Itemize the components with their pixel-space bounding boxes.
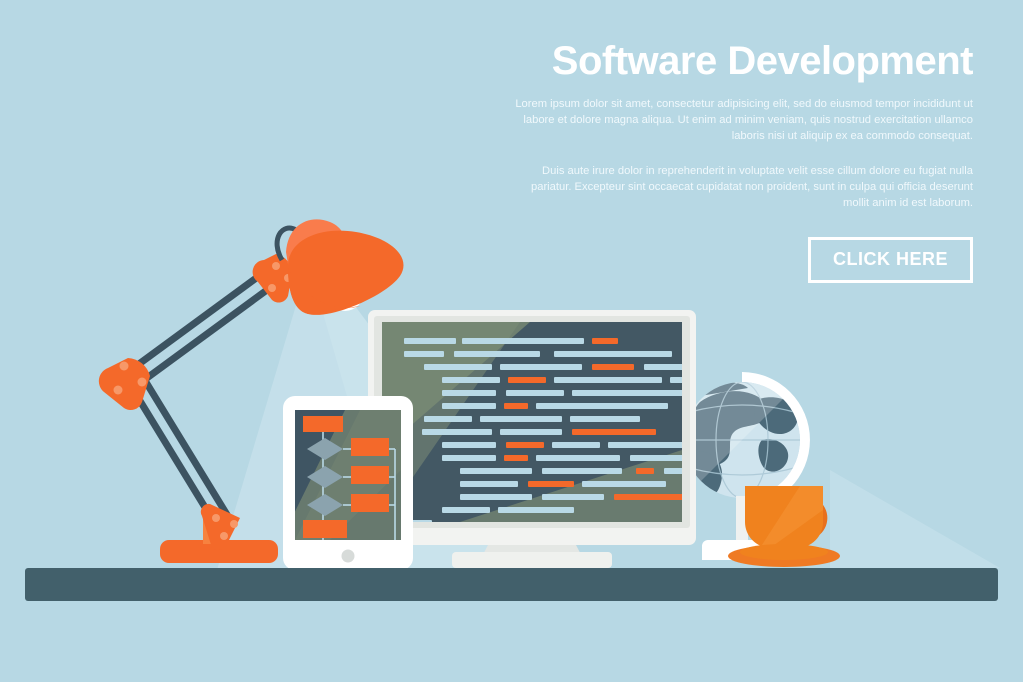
code-line-segment (582, 481, 666, 487)
code-line-segment (528, 481, 574, 487)
code-line-segment (404, 338, 456, 344)
code-line-segment (442, 442, 496, 448)
code-line-segment (454, 351, 540, 357)
monitor-stand-foot (452, 552, 612, 568)
code-line-segment (536, 455, 620, 461)
code-line-segment (442, 455, 496, 461)
code-line-segment (572, 429, 656, 435)
code-line-segment (424, 416, 472, 422)
click-here-button[interactable]: CLICK HERE (808, 237, 973, 283)
code-line-segment (460, 468, 532, 474)
code-line-segment (480, 416, 562, 422)
code-line-segment (536, 403, 668, 409)
flow-node-action3 (351, 494, 389, 512)
code-line-segment (570, 416, 640, 422)
header-text-block: Software Development Lorem ipsum dolor s… (513, 40, 973, 283)
code-line-segment (500, 429, 562, 435)
intro-paragraph-1: Lorem ipsum dolor sit amet, consectetur … (513, 96, 973, 145)
code-line-segment (592, 364, 634, 370)
flow-node-action2 (351, 466, 389, 484)
flow-node-action1 (351, 438, 389, 456)
code-line-segment (404, 351, 444, 357)
code-line-segment (506, 442, 544, 448)
code-line-segment (592, 338, 618, 344)
code-line-segment (442, 507, 490, 513)
illustration-canvas: Software Development Lorem ipsum dolor s… (0, 0, 1023, 682)
code-line-segment (424, 364, 492, 370)
page-title: Software Development (513, 40, 973, 82)
flow-node-start (303, 416, 343, 432)
code-line-segment (460, 494, 532, 500)
code-line-segment (552, 442, 600, 448)
code-line-segment (554, 377, 662, 383)
code-line-segment (504, 455, 528, 461)
code-line-segment (504, 403, 528, 409)
code-line-segment (442, 390, 496, 396)
code-line-segment (462, 338, 584, 344)
code-line-segment (460, 481, 518, 487)
code-line-segment (422, 429, 492, 435)
code-line-segment (572, 390, 684, 396)
tablet-device (281, 396, 413, 570)
code-line-segment (506, 390, 564, 396)
intro-paragraph-2: Duis aute irure dolor in reprehenderit i… (513, 163, 973, 212)
tablet-home-button[interactable] (342, 550, 355, 563)
code-line-segment (636, 468, 654, 474)
code-line-segment (498, 507, 574, 513)
code-line-segment (442, 403, 496, 409)
code-line-segment (508, 377, 546, 383)
code-line-segment (442, 377, 500, 383)
flow-node-process (303, 520, 347, 538)
code-line-segment (542, 468, 622, 474)
code-line-segment (500, 364, 582, 370)
desk-surface (25, 568, 998, 601)
code-line-segment (542, 494, 604, 500)
code-line-segment (554, 351, 672, 357)
